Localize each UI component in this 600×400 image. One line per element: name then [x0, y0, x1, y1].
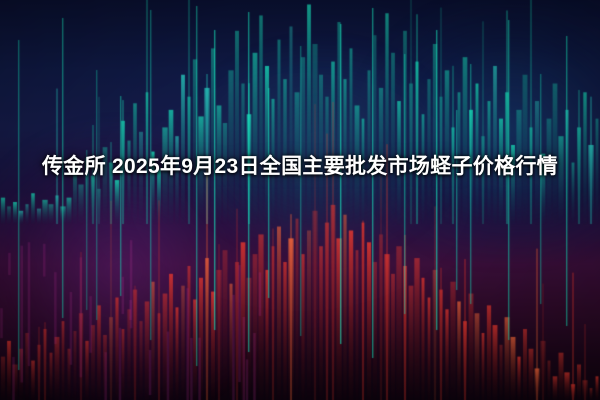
title-overlay: 传金所 2025年9月23日全国主要批发市场蛏子价格行情: [0, 150, 600, 184]
screenshot-stage: 传金所 2025年9月23日全国主要批发市场蛏子价格行情: [0, 0, 600, 400]
page-title: 传金所 2025年9月23日全国主要批发市场蛏子价格行情: [42, 150, 558, 184]
decorative-market-chart: [0, 0, 600, 400]
